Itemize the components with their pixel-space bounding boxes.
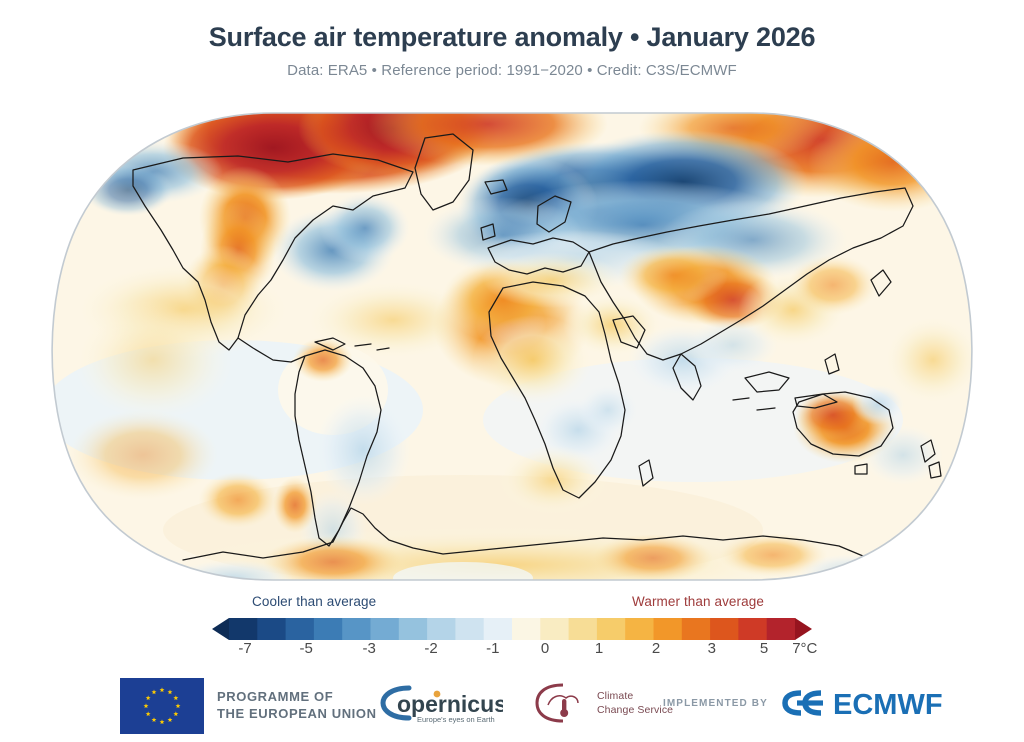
colorbar-tick-label: 0 bbox=[541, 640, 549, 657]
colorbar-swatch bbox=[597, 618, 626, 640]
colorbar-tick-label: -7 bbox=[238, 640, 251, 657]
colorbar-swatch bbox=[738, 618, 767, 640]
colorbar-tick-label: 7°C bbox=[792, 640, 817, 657]
colorbar-tick-label: 1 bbox=[595, 640, 603, 657]
copernicus-mark-icon: opernicus Europe's eyes on Earth bbox=[375, 682, 503, 724]
colorbar-warm-label: Warmer than average bbox=[632, 594, 764, 609]
colorbar-swatch bbox=[540, 618, 569, 640]
colorbar-cap-high bbox=[795, 618, 812, 640]
ecmwf-logo: IMPLEMENTED BY ECMWF bbox=[663, 686, 969, 720]
colorbar-swatch bbox=[229, 618, 258, 640]
colorbar-swatch bbox=[682, 618, 711, 640]
page-title: Surface air temperature anomaly • Januar… bbox=[0, 22, 1024, 53]
colorbar-swatch bbox=[399, 618, 428, 640]
world-map bbox=[33, 110, 991, 588]
eu-logo-text: PROGRAMME OF THE EUROPEAN UNION bbox=[217, 689, 377, 722]
colorbar-tick-label: 3 bbox=[708, 640, 716, 657]
copernicus-wordmark: opernicus bbox=[397, 691, 503, 717]
eu-logo: PROGRAMME OF THE EUROPEAN UNION bbox=[120, 678, 377, 734]
colorbar-tick-label: -2 bbox=[424, 640, 437, 657]
eu-flag-icon bbox=[120, 678, 204, 734]
colorbar-swatch bbox=[625, 618, 654, 640]
colorbar-swatch bbox=[569, 618, 598, 640]
colorbar-swatch bbox=[257, 618, 286, 640]
colorbar-swatch bbox=[767, 618, 796, 640]
climate-map-figure: Surface air temperature anomaly • Januar… bbox=[0, 0, 1024, 742]
colorbar-swatch bbox=[427, 618, 456, 640]
copernicus-tagline: Europe's eyes on Earth bbox=[417, 715, 495, 724]
colorbar: Cooler than average Warmer than average … bbox=[0, 594, 1024, 666]
anomaly-field bbox=[33, 110, 991, 588]
colorbar-tick-label: 5 bbox=[760, 640, 768, 657]
figure-footer: PROGRAMME OF THE EUROPEAN UNION opernicu… bbox=[0, 672, 1024, 734]
copernicus-logo: opernicus Europe's eyes on Earth bbox=[375, 682, 503, 724]
colorbar-swatch bbox=[484, 618, 513, 640]
colorbar-swatch bbox=[455, 618, 484, 640]
c3s-logo-text: Climate Change Service bbox=[597, 689, 673, 717]
c3s-logo: Climate Change Service bbox=[533, 681, 673, 725]
c3s-text-line1: Climate bbox=[597, 689, 673, 703]
colorbar-swatches bbox=[212, 618, 812, 640]
eu-text-line2: THE EUROPEAN UNION bbox=[217, 706, 377, 723]
colorbar-swatch bbox=[286, 618, 315, 640]
ecmwf-wordmark: ECMWF bbox=[833, 689, 943, 720]
colorbar-swatch bbox=[342, 618, 371, 640]
map-canvas bbox=[33, 110, 991, 588]
implemented-by-label: IMPLEMENTED BY bbox=[663, 698, 768, 709]
colorbar-swatch bbox=[371, 618, 400, 640]
eu-text-line1: PROGRAMME OF bbox=[217, 689, 377, 706]
colorbar-tick-label: -5 bbox=[300, 640, 313, 657]
colorbar-swatch bbox=[512, 618, 541, 640]
colorbar-tick-label: -3 bbox=[363, 640, 376, 657]
c3s-mark-icon bbox=[533, 681, 591, 725]
figure-header: Surface air temperature anomaly • Januar… bbox=[0, 22, 1024, 79]
colorbar-ticks: -7-5-3-2-1012357°C bbox=[212, 640, 812, 664]
colorbar-tick-label: 2 bbox=[652, 640, 660, 657]
colorbar-swatch bbox=[710, 618, 739, 640]
colorbar-cool-label: Cooler than average bbox=[252, 594, 376, 609]
page-subtitle: Data: ERA5 • Reference period: 1991−2020… bbox=[0, 62, 1024, 79]
c3s-text-line2: Change Service bbox=[597, 703, 673, 717]
colorbar-cap-low bbox=[212, 618, 229, 640]
colorbar-swatch bbox=[314, 618, 343, 640]
colorbar-tick-label: -1 bbox=[486, 640, 499, 657]
colorbar-swatch bbox=[654, 618, 683, 640]
ecmwf-mark-icon: ECMWF bbox=[777, 686, 969, 720]
